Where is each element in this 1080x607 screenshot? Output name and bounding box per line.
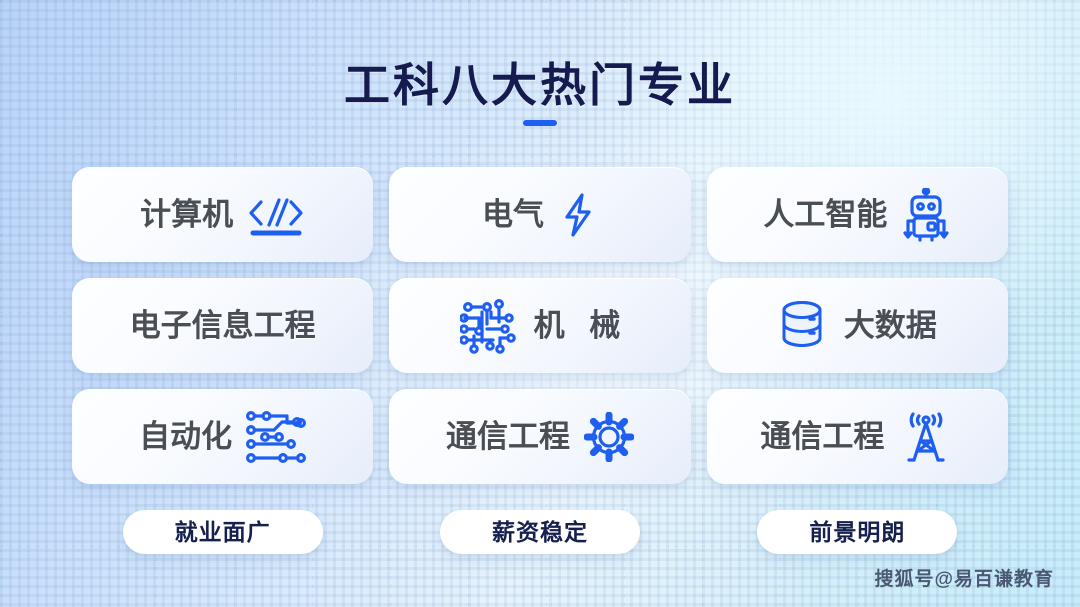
circuit-nodes-icon — [246, 409, 306, 465]
major-card-label: 通信工程 — [446, 421, 570, 452]
poster-canvas: 工科八大热门专业 计算机电气人工智能电子信息工程机 械大数据自动化通信工程通信工… — [0, 0, 1080, 607]
benefit-pill-label: 就业面广 — [175, 521, 271, 544]
benefit-pill[interactable]: 前景明朗 — [757, 510, 957, 554]
benefit-pill[interactable]: 薪资稳定 — [440, 510, 640, 554]
major-card-label: 机 械 — [534, 310, 629, 341]
major-card[interactable]: 机 械 — [389, 278, 690, 373]
circuit-board-icon — [460, 298, 516, 354]
code-icon — [247, 192, 305, 238]
major-card[interactable]: 通信工程 — [389, 389, 690, 484]
major-card-label: 大数据 — [844, 310, 937, 341]
major-card-label: 电子信息工程 — [130, 310, 316, 341]
benefit-pill-row: 就业面广薪资稳定前景明朗 — [72, 510, 1008, 554]
major-card[interactable]: 电气 — [389, 167, 690, 262]
gear-icon — [584, 412, 634, 462]
robot-icon — [901, 188, 951, 242]
major-card[interactable]: 人工智能 — [707, 167, 1008, 262]
major-card-label: 通信工程 — [760, 421, 884, 452]
database-icon — [778, 299, 826, 353]
major-card-label: 自动化 — [139, 421, 232, 452]
signal-tower-icon — [898, 410, 954, 464]
major-card[interactable]: 大数据 — [707, 278, 1008, 373]
watermark-text: 搜狐号@易百谦教育 — [874, 564, 1054, 591]
major-card[interactable]: 电子信息工程 — [72, 278, 373, 373]
benefit-pill-label: 前景明朗 — [809, 521, 905, 544]
major-card[interactable]: 计算机 — [72, 167, 373, 262]
major-card-label: 计算机 — [140, 199, 233, 230]
benefit-pill[interactable]: 就业面广 — [123, 510, 323, 554]
benefit-pill-label: 薪资稳定 — [492, 521, 588, 544]
major-card-label: 电气 — [482, 199, 544, 230]
major-card[interactable]: 自动化 — [72, 389, 373, 484]
lightning-bolt-icon — [558, 192, 598, 238]
page-title: 工科八大热门专业 — [0, 62, 1080, 108]
major-card[interactable]: 通信工程 — [707, 389, 1008, 484]
title-underline-accent — [523, 120, 557, 126]
title-block: 工科八大热门专业 — [0, 62, 1080, 126]
major-card-grid: 计算机电气人工智能电子信息工程机 械大数据自动化通信工程通信工程 — [72, 167, 1008, 484]
major-card-label: 人工智能 — [763, 199, 887, 230]
